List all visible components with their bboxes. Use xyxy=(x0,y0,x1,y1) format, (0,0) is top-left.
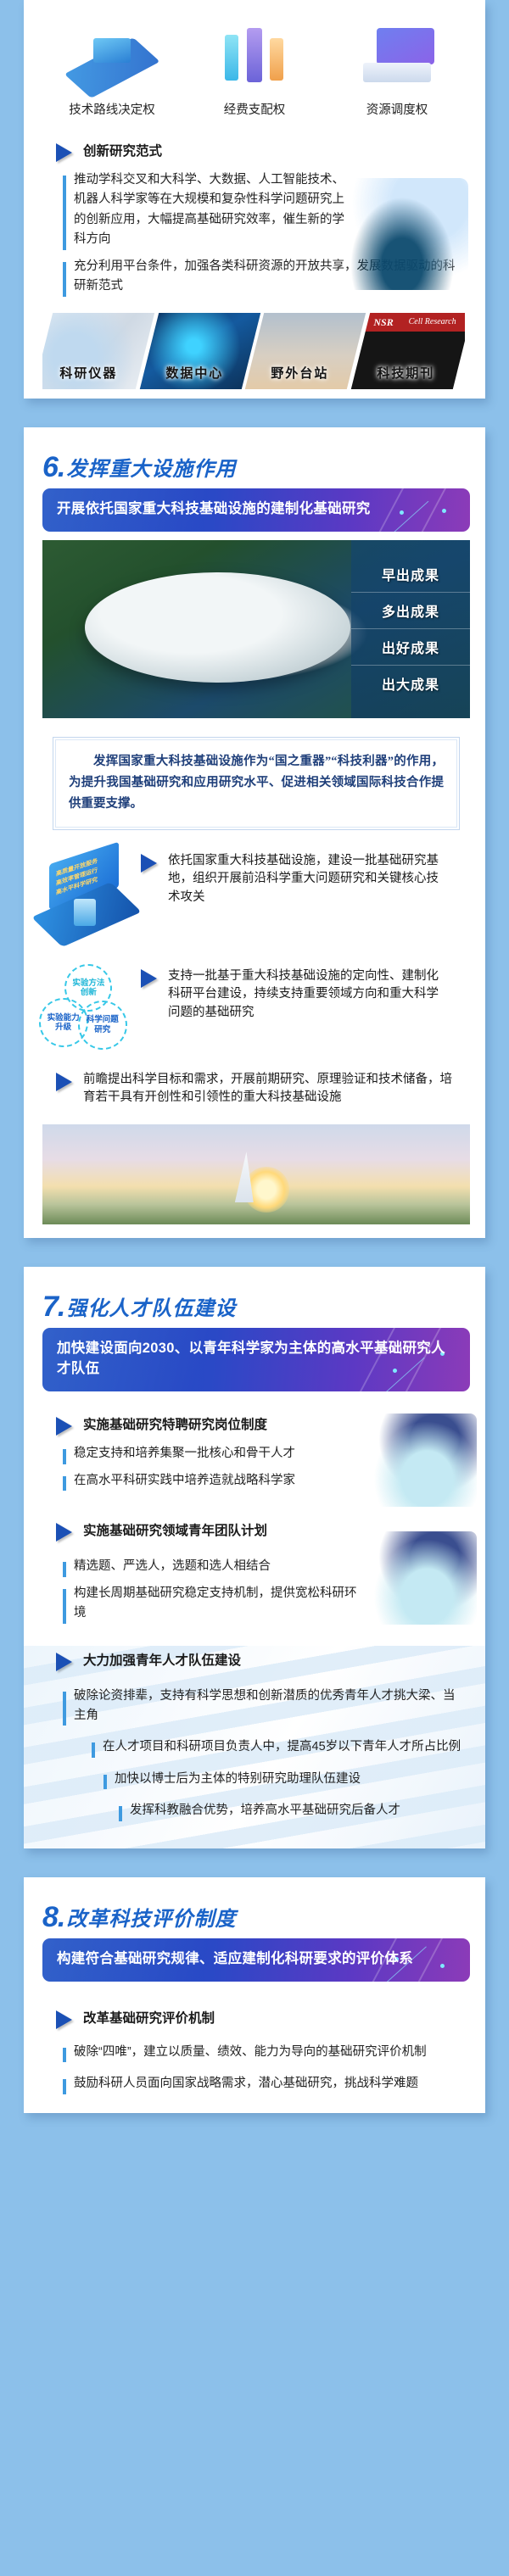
triangle-bullet-icon xyxy=(141,969,157,988)
bullet-item: 支持一批基于重大科技基础设施的定向性、建制化科研平台建设，持续支持重要领域方向和… xyxy=(141,962,465,1028)
bullet-item: 发挥科教融合优势，培养高水平基础研究后备人才 xyxy=(24,1793,485,1824)
paradigm-row: 推动学科交叉和大科学、大数据、人工智能技术、机器人科学家等在大规模和复杂性科学问… xyxy=(24,167,485,254)
authority-label-0: 技术路线决定权 xyxy=(41,100,183,118)
triangle-bullet-icon xyxy=(56,1523,72,1542)
bar-bullet-icon xyxy=(103,1775,107,1789)
sunset-campus-photo xyxy=(42,1124,470,1224)
bullet-text: 依托国家重大科技基础设施，建设一批基础研究基地，组织开展前沿科学重大问题研究和关… xyxy=(168,852,445,907)
fast-telescope-photo: 早出成果 多出成果 出好成果 出大成果 xyxy=(42,540,470,718)
section7-group-0: 实施基础研究特聘研究岗位制度 稳定支持和培养集聚一批核心和骨干人才 在高水平科研… xyxy=(24,1410,485,1494)
authority-label-2: 资源调度权 xyxy=(326,100,468,118)
bullet-text: 精选题、严选人，选题和选人相结合 xyxy=(74,1557,271,1576)
team-monitor-illustration xyxy=(366,1413,477,1507)
authority-icon-0: 技术路线决定权 xyxy=(41,22,183,118)
card-section5-tail: 技术路线决定权 经费支配权 xyxy=(24,0,485,399)
bullet-item: 破除论资排辈，支持有科学思想和创新潜质的优秀青年人才挑大梁、当主角 xyxy=(24,1676,485,1730)
section7-group-1: 实施基础研究领域青年团队计划 精选题、严选人，选题和选人相结合 构建长周期基础研… xyxy=(24,1516,485,1626)
heading-text: 创新研究范式 xyxy=(83,142,162,161)
bar-bullet-icon xyxy=(63,1449,66,1464)
section7-banner: 加快建设面向2030、以青年科学家为主体的高水平基础研究人才队伍 xyxy=(42,1328,470,1391)
lab-tools-illustration xyxy=(366,1531,477,1625)
bullet-text: 破除“四唯”，建立以质量、绩效、能力为导向的基础研究评价机制 xyxy=(74,2043,427,2062)
strip-caption: 野外台站 xyxy=(249,364,351,382)
bullet-text: 构建长周期基础研究稳定支持机制，提供宽松科研环境 xyxy=(74,1584,358,1624)
facility-iso-illustration: 高质量开放服务高效率管理运行高水平科学研究 xyxy=(32,847,141,947)
heading-text: 改革基础研究评价机制 xyxy=(83,2009,215,2028)
heading-text: 实施基础研究特聘研究岗位制度 xyxy=(83,1415,267,1435)
bullet-text: 推动学科交叉和大科学、大数据、人工智能技术、机器人科学家等在大规模和复杂性科学问… xyxy=(74,170,351,250)
strip-caption: 数据中心 xyxy=(143,364,245,382)
bullet-body: 依托国家重大科技基础设施，建设一批基础研究基地，组织开展前沿科学重大问题研究和关… xyxy=(141,847,465,912)
funding-chart-icon xyxy=(208,22,301,95)
quote-text: 发挥国家重大科技基础设施作为“国之重器”“科技利器”的作用，为提升我国基础研究和… xyxy=(55,739,457,828)
bullet-text: 破除论资排辈，支持有科学思想和创新潜质的优秀青年人才挑大梁、当主角 xyxy=(74,1687,456,1726)
section-title: 发挥重大设施作用 xyxy=(66,460,236,482)
strip-tile-journal: NSR Cell Research 科技期刊 xyxy=(350,312,465,390)
triangle-bullet-icon xyxy=(141,854,157,873)
section6-heading: 6. 发挥重大设施作用 xyxy=(24,427,485,485)
section7-heading: 7. 强化人才队伍建设 xyxy=(24,1267,485,1324)
section7-group-2: 大力加强青年人才队伍建设 破除论资排辈，支持有科学思想和创新潜质的优秀青年人才挑… xyxy=(24,1646,485,1848)
banner-text: 加快建设面向2030、以青年科学家为主体的高水平基础研究人才队伍 xyxy=(57,1341,445,1376)
section6-bullet-row-0: 高质量开放服务高效率管理运行高水平科学研究 依托国家重大科技基础设施，建设一批基… xyxy=(24,844,485,951)
heading-text: 大力加强青年人才队伍建设 xyxy=(83,1651,241,1670)
bullet-text: 加快以博士后为主体的特别研究助理队伍建设 xyxy=(115,1770,361,1789)
triangle-bullet-icon xyxy=(56,2010,72,2029)
bullet-text: 在高水平科研实践中培养造就战略科学家 xyxy=(74,1471,295,1491)
bar-bullet-icon xyxy=(63,262,66,297)
bar-bullet-icon xyxy=(63,2079,66,2094)
bullet-item: 依托国家重大科技基础设施，建设一批基础研究基地，组织开展前沿科学重大问题研究和关… xyxy=(141,847,465,912)
section-number: 6. xyxy=(42,453,64,482)
robot-scientist-illustration xyxy=(344,178,472,297)
bar-bullet-icon xyxy=(63,1562,66,1576)
bar-bullet-icon xyxy=(63,1476,66,1491)
bullet-text: 发挥科教融合优势，培养高水平基础研究后备人才 xyxy=(130,1801,400,1820)
result-item: 早出成果 xyxy=(351,556,470,593)
section8-banner: 构建符合基础研究规律、适应建制化科研要求的评价体系 xyxy=(42,1938,470,1982)
strip-tile-field-station: 野外台站 xyxy=(244,312,366,390)
group-heading: 改革基础研究评价机制 xyxy=(24,2004,485,2034)
card-section6: 6. 发挥重大设施作用 开展依托国家重大科技基础设施的建制化基础研究 早出成果 … xyxy=(24,427,485,1238)
section8-group-0: 改革基础研究评价机制 破除“四唯”，建立以质量、绩效、能力为导向的基础研究评价机… xyxy=(24,2004,485,2098)
bullet-item: 在人才项目和科研项目负责人中，提高45岁以下青年人才所占比例 xyxy=(24,1729,485,1760)
authority-icon-2: 资源调度权 xyxy=(326,22,468,118)
strip-tile-instrument: 科研仪器 xyxy=(42,312,155,390)
strip-caption: 科研仪器 xyxy=(42,364,139,382)
section6-bullet-row-2: 前瞻提出科学目标和需求，开展前期研究、原理验证和技术储备，培育若干具有开创性和引… xyxy=(24,1066,485,1113)
heading-text: 实施基础研究领域青年团队计划 xyxy=(83,1521,267,1541)
journal-logo-nsr: NSR xyxy=(373,316,393,329)
bar-bullet-icon xyxy=(63,2048,66,2062)
strip-tile-datacenter: 数据中心 xyxy=(138,312,260,390)
authority-icon-row: 技术路线决定权 经费支配权 xyxy=(24,0,485,126)
facility-photo-strip: 科研仪器 数据中心 野外台站 NSR Cell Research 科技期刊 xyxy=(42,312,465,390)
bullet-text: 在人才项目和科研项目负责人中，提高45岁以下青年人才所占比例 xyxy=(103,1737,461,1757)
bullet-item: 破除“四唯”，建立以质量、绩效、能力为导向的基础研究评价机制 xyxy=(24,2034,485,2066)
section6-banner: 开展依托国家重大科技基础设施的建制化基础研究 xyxy=(42,488,470,532)
result-item: 出好成果 xyxy=(351,629,470,666)
triangle-bullet-icon xyxy=(56,1653,72,1671)
gap xyxy=(0,1848,509,1877)
gap xyxy=(0,1238,509,1267)
triangle-bullet-icon xyxy=(56,1417,72,1436)
bar-bullet-icon xyxy=(92,1742,95,1757)
authority-icon-1: 经费支配权 xyxy=(183,22,326,118)
bullet-text: 鼓励科研人员面向国家战略需求，潜心基础研究，挑战科学难题 xyxy=(74,2074,418,2094)
card-section7: 7. 强化人才队伍建设 加快建设面向2030、以青年科学家为主体的高水平基础研究… xyxy=(24,1267,485,1848)
bullet-item: 加快以博士后为主体的特别研究助理队伍建设 xyxy=(24,1761,485,1793)
authority-label-1: 经费支配权 xyxy=(183,100,326,118)
bar-bullet-icon xyxy=(63,1589,66,1624)
gap xyxy=(0,399,509,427)
section6-quote-box: 发挥国家重大科技基础设施作为“国之重器”“科技利器”的作用，为提升我国基础研究和… xyxy=(53,737,460,830)
bullet-text: 前瞻提出科学目标和需求，开展前期研究、原理验证和技术储备，培育若干具有开创性和引… xyxy=(83,1071,460,1108)
section-number: 7. xyxy=(42,1292,64,1321)
strip-caption: 科技期刊 xyxy=(355,364,456,382)
results-panel: 早出成果 多出成果 出好成果 出大成果 xyxy=(351,540,470,718)
bullet-text: 稳定支持和培养集聚一批核心和骨干人才 xyxy=(74,1444,295,1464)
section-number: 8. xyxy=(42,1903,64,1932)
section-title: 改革科技评价制度 xyxy=(66,1910,236,1932)
three-circles-illustration: 实验方法创新 实验能力升级 科学问题研究 xyxy=(32,962,141,1062)
section-title: 强化人才队伍建设 xyxy=(66,1299,236,1321)
banner-text: 开展依托国家重大科技基础设施的建制化基础研究 xyxy=(57,501,371,516)
bar-bullet-icon xyxy=(119,1806,122,1820)
banner-text: 构建符合基础研究规律、适应建制化科研要求的评价体系 xyxy=(57,1951,413,1966)
card-section8: 8. 改革科技评价制度 构建符合基础研究规律、适应建制化科研要求的评价体系 改革… xyxy=(24,1877,485,2113)
telescope-dish xyxy=(85,572,350,683)
bar-bullet-icon xyxy=(63,176,66,250)
infographic-page: 技术路线决定权 经费支配权 xyxy=(0,0,509,2113)
triangle-bullet-icon xyxy=(56,1073,72,1091)
bullet-body: 支持一批基于重大科技基础设施的定向性、建制化科研平台建设，持续支持重要领域方向和… xyxy=(141,962,465,1028)
group-heading: 大力加强青年人才队伍建设 xyxy=(24,1646,485,1676)
bar-bullet-icon xyxy=(63,1692,66,1726)
circle-label-question: 科学问题研究 xyxy=(78,1001,127,1050)
triangle-bullet-icon xyxy=(56,143,72,162)
bullet-item: 鼓励科研人员面向国家战略需求，潜心基础研究，挑战科学难题 xyxy=(24,2066,485,2097)
analytics-laptop-icon xyxy=(350,22,444,95)
journal-logo-cell-research: Cell Research xyxy=(408,317,456,326)
bullet-heading-innovation-paradigm: 创新研究范式 xyxy=(24,126,485,167)
bullet-text: 支持一批基于重大科技基础设施的定向性、建制化科研平台建设，持续支持重要领域方向和… xyxy=(168,967,445,1023)
section8-heading: 8. 改革科技评价制度 xyxy=(24,1877,485,1935)
result-item: 多出成果 xyxy=(351,593,470,629)
section6-bullet-row-1: 实验方法创新 实验能力升级 科学问题研究 支持一批基于重大科技基础设施的定向性、… xyxy=(24,959,485,1066)
result-item: 出大成果 xyxy=(351,666,470,701)
microscope-lab-icon xyxy=(65,22,159,95)
